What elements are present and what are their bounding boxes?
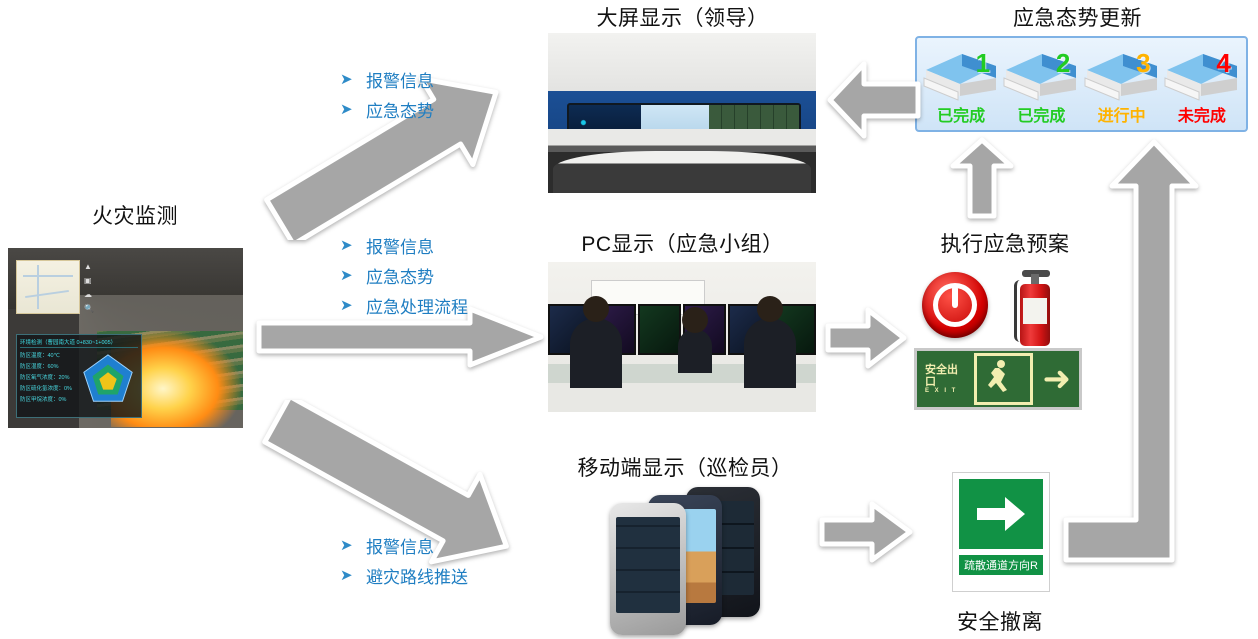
bullet-label: 报警信息 bbox=[366, 533, 434, 558]
status-step[interactable]: 3 进行中 bbox=[1083, 44, 1161, 126]
bullet-label: 应急处理流程 bbox=[366, 293, 468, 318]
step-number: 4 bbox=[1216, 48, 1230, 79]
bullet-row: ➤应急态势 bbox=[340, 94, 434, 124]
status-step[interactable]: 2 已完成 bbox=[1002, 44, 1080, 126]
step-book-icon: 1 bbox=[922, 44, 1000, 106]
status-step[interactable]: 1 已完成 bbox=[922, 44, 1000, 126]
status-panel: 1 已完成 2 已完成 3 进行中 bbox=[915, 36, 1248, 132]
flow-labels-pc: ➤报警信息 ➤应急态势 ➤应急处理流程 bbox=[340, 230, 468, 320]
bullet-marker-icon: ➤ bbox=[340, 70, 366, 88]
bullet-label: 报警信息 bbox=[366, 233, 434, 258]
operator bbox=[744, 318, 796, 388]
evacuation-sign: 疏散通道方向R bbox=[952, 472, 1050, 592]
bullet-label: 应急态势 bbox=[366, 263, 434, 288]
power-button-icon bbox=[922, 272, 988, 338]
evacuation-title: 安全撤离 bbox=[900, 606, 1100, 636]
arrow-pc-to-plan bbox=[824, 306, 908, 370]
hud-header: 环境检测（曹园南大道 0+830~1+005） bbox=[20, 338, 138, 348]
radar-chart bbox=[79, 351, 137, 409]
evacuation-arrow-box bbox=[959, 479, 1043, 549]
pc-screen-photo bbox=[548, 262, 816, 412]
evacuation-arrow-icon bbox=[973, 492, 1029, 536]
map-tool-icons[interactable]: ▲▣☁🔍 bbox=[84, 260, 96, 316]
bullet-label: 避灾路线推送 bbox=[366, 563, 468, 588]
operator bbox=[570, 318, 622, 388]
exit-sign-text: 安全出口 E X I T bbox=[925, 364, 968, 395]
extinguisher-label bbox=[1023, 298, 1047, 324]
big-screen-title: 大屏显示（领导） bbox=[545, 2, 820, 32]
arrow-evac-to-status bbox=[1058, 136, 1258, 566]
environment-hud-panel: 环境检测（曹园南大道 0+830~1+005） 防区温度：40℃ 防区湿度：60… bbox=[16, 334, 142, 418]
console-desk-front bbox=[553, 151, 810, 193]
fire-monitoring-image: ▲▣☁🔍 环境检测（曹园南大道 0+830~1+005） 防区温度：40℃ 防区… bbox=[8, 248, 243, 428]
exit-sign: 安全出口 E X I T ➜ bbox=[914, 348, 1082, 410]
bullet-row: ➤报警信息 bbox=[340, 230, 468, 260]
mobile-phones-photo bbox=[608, 487, 768, 635]
fire-monitoring-title: 火灾监测 bbox=[40, 200, 230, 230]
bullet-marker-icon: ➤ bbox=[340, 100, 366, 118]
mobile-screen-title: 移动端显示（巡检员） bbox=[535, 452, 835, 482]
fire-extinguisher-icon bbox=[1012, 268, 1060, 350]
mini-map bbox=[16, 260, 80, 314]
bullet-marker-icon: ➤ bbox=[340, 266, 366, 284]
ceiling bbox=[548, 33, 816, 97]
bullet-label: 报警信息 bbox=[366, 67, 434, 92]
bullet-row: ➤报警信息 bbox=[340, 64, 434, 94]
bullet-row: ➤应急处理流程 bbox=[340, 290, 468, 320]
step-number: 1 bbox=[976, 48, 990, 79]
bullet-row: ➤避灾路线推送 bbox=[340, 560, 468, 590]
step-book-icon: 4 bbox=[1163, 44, 1241, 106]
flow-labels-mobile: ➤报警信息 ➤避灾路线推送 bbox=[340, 530, 468, 590]
bullet-row: ➤应急态势 bbox=[340, 260, 468, 290]
bullet-marker-icon: ➤ bbox=[340, 296, 366, 314]
power-bar bbox=[952, 286, 958, 308]
step-number: 2 bbox=[1056, 48, 1070, 79]
step-number: 3 bbox=[1136, 48, 1150, 79]
status-step[interactable]: 4 未完成 bbox=[1163, 44, 1241, 126]
arrow-status-to-bigscreen bbox=[824, 58, 922, 142]
running-man-icon bbox=[974, 353, 1033, 405]
step-book-icon: 3 bbox=[1083, 44, 1161, 106]
phone-front bbox=[610, 503, 686, 635]
evacuation-caption: 疏散通道方向R bbox=[959, 555, 1043, 575]
big-screen-photo bbox=[548, 33, 816, 193]
phone-screen bbox=[616, 517, 680, 613]
status-panel-title: 应急态势更新 bbox=[975, 2, 1180, 32]
bullet-marker-icon: ➤ bbox=[340, 236, 366, 254]
bullet-marker-icon: ➤ bbox=[340, 566, 366, 584]
step-book-icon: 2 bbox=[1002, 44, 1080, 106]
bullet-marker-icon: ➤ bbox=[340, 536, 366, 554]
arrow-plan-to-status bbox=[948, 136, 1016, 220]
monitor bbox=[638, 304, 681, 355]
bullet-row: ➤报警信息 bbox=[340, 530, 468, 560]
pc-screen-title: PC显示（应急小组） bbox=[545, 228, 820, 258]
operator bbox=[678, 329, 712, 373]
bullet-label: 应急态势 bbox=[366, 97, 434, 122]
arrow-mobile-to-evac bbox=[818, 500, 914, 564]
flow-labels-big-screen: ➤报警信息 ➤应急态势 bbox=[340, 64, 434, 124]
